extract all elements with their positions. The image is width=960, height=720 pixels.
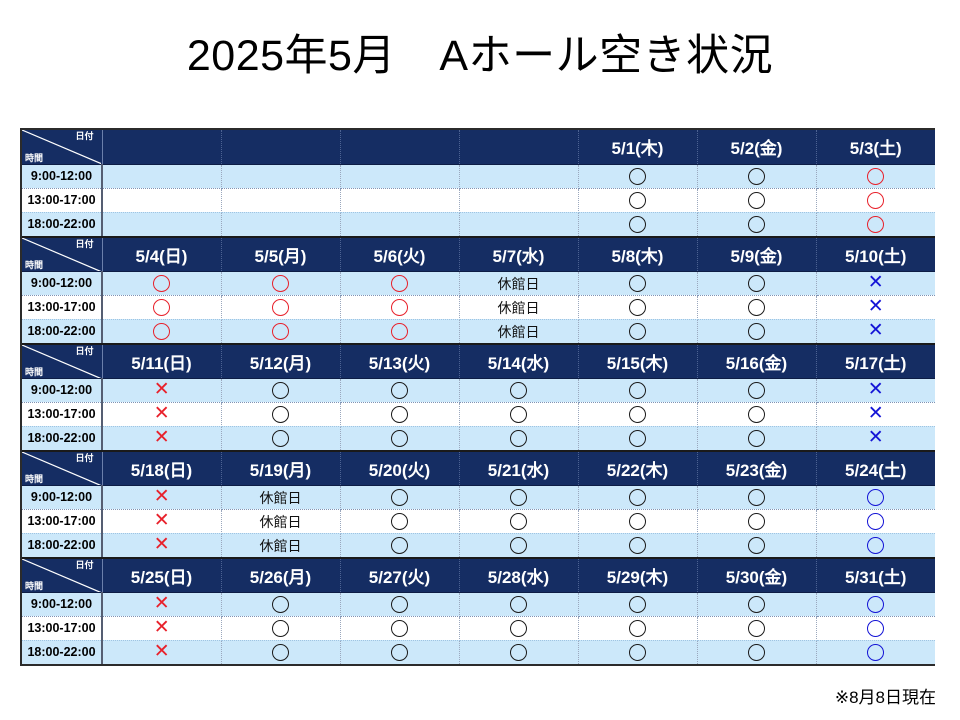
date-header-cell: 5/15(木) [578,344,697,378]
axis-label-time: 時間 [25,368,43,377]
cross-booked-icon: ✕ [868,321,884,340]
availability-cell-available[interactable] [102,319,221,343]
availability-cell-available[interactable] [697,402,816,426]
date-header-cell: 5/19(月) [221,451,340,485]
circle-available-icon [629,596,646,613]
circle-available-icon [510,430,527,447]
availability-cell-booked[interactable]: ✕ [102,485,221,509]
circle-available-icon [272,275,289,292]
circle-available-icon [867,489,884,506]
circle-available-icon [391,644,408,661]
availability-cell-available[interactable] [697,164,816,188]
week-header-row: 時間日付5/25(日)5/26(月)5/27(火)5/28(水)5/29(木)5… [22,558,935,592]
availability-cell-available[interactable] [697,640,816,664]
availability-cell-available[interactable] [578,212,697,236]
cross-booked-icon: ✕ [154,487,170,506]
availability-cell-empty [340,212,459,236]
axis-label-time: 時間 [25,261,43,270]
slot-row: 9:00-12:00 [22,164,935,188]
date-header-cell: 5/14(水) [459,344,578,378]
availability-cell-available[interactable] [578,319,697,343]
circle-available-icon [510,620,527,637]
axis-corner-cell: 時間日付 [22,237,102,271]
availability-cell-closed[interactable]: 休館日 [459,295,578,319]
circle-available-icon [510,596,527,613]
date-header-cell: 5/12(月) [221,344,340,378]
availability-cell-available[interactable] [816,640,935,664]
circle-available-icon [272,382,289,399]
availability-cell-available[interactable] [459,378,578,402]
closed-day-label: 休館日 [498,325,540,339]
availability-cell-booked[interactable]: ✕ [816,426,935,450]
cross-booked-icon: ✕ [154,642,170,661]
slot-row: 9:00-12:00✕✕ [22,378,935,402]
date-header-cell: 5/8(木) [578,237,697,271]
availability-cell-empty [102,212,221,236]
slot-row: 18:00-22:00✕休館日 [22,533,935,557]
availability-cell-available[interactable] [340,426,459,450]
week-header-row: 時間日付5/18(日)5/19(月)5/20(火)5/21(水)5/22(木)5… [22,451,935,485]
availability-cell-available[interactable] [816,616,935,640]
circle-available-icon [391,406,408,423]
availability-cell-available[interactable] [697,319,816,343]
circle-available-icon [629,406,646,423]
axis-corner-cell: 時間日付 [22,344,102,378]
availability-cell-booked[interactable]: ✕ [816,378,935,402]
availability-cell-available[interactable] [697,295,816,319]
circle-available-icon [629,168,646,185]
time-slot-label: 18:00-22:00 [22,533,102,557]
circle-available-icon [272,644,289,661]
availability-cell-available[interactable] [697,212,816,236]
axis-label-date: 日付 [75,240,93,249]
date-header-cell: 5/13(火) [340,344,459,378]
date-header-cell: 5/30(金) [697,558,816,592]
availability-cell-available[interactable] [816,212,935,236]
cross-booked-icon: ✕ [154,404,170,423]
availability-cell-available[interactable] [816,188,935,212]
axis-label-time: 時間 [25,475,43,484]
availability-cell-available[interactable] [578,188,697,212]
circle-available-icon [867,168,884,185]
circle-available-icon [629,275,646,292]
time-slot-label: 18:00-22:00 [22,212,102,236]
circle-available-icon [391,323,408,340]
time-slot-label: 13:00-17:00 [22,188,102,212]
slot-row: 13:00-17:00 [22,188,935,212]
availability-cell-available[interactable] [459,640,578,664]
availability-cell-available[interactable] [459,616,578,640]
time-slot-label: 13:00-17:00 [22,616,102,640]
circle-available-icon [272,299,289,316]
date-header-cell: 5/23(金) [697,451,816,485]
circle-available-icon [748,620,765,637]
circle-available-icon [153,323,170,340]
date-header-cell: 5/28(水) [459,558,578,592]
availability-cell-available[interactable] [697,592,816,616]
date-header-cell: 5/11(日) [102,344,221,378]
availability-cell-available[interactable] [816,164,935,188]
cross-booked-icon: ✕ [868,428,884,447]
circle-available-icon [867,513,884,530]
time-slot-label: 18:00-22:00 [22,426,102,450]
circle-available-icon [391,382,408,399]
cross-booked-icon: ✕ [154,511,170,530]
circle-available-icon [510,406,527,423]
time-slot-label: 18:00-22:00 [22,319,102,343]
availability-cell-closed[interactable]: 休館日 [221,509,340,533]
availability-cell-available[interactable] [340,271,459,295]
circle-available-icon [272,430,289,447]
availability-cell-empty [459,212,578,236]
circle-available-icon [629,430,646,447]
axis-label-date: 日付 [75,347,93,356]
date-header-cell: 5/18(日) [102,451,221,485]
date-header-cell: 5/22(木) [578,451,697,485]
circle-available-icon [748,596,765,613]
time-slot-label: 9:00-12:00 [22,485,102,509]
availability-cell-empty [459,188,578,212]
availability-cell-booked[interactable]: ✕ [102,533,221,557]
availability-cell-available[interactable] [459,485,578,509]
date-header-cell: 5/7(水) [459,237,578,271]
circle-available-icon [510,382,527,399]
availability-cell-empty [340,188,459,212]
axis-label-time: 時間 [25,154,43,163]
availability-cell-available[interactable] [697,533,816,557]
availability-cell-available[interactable] [697,426,816,450]
availability-cell-available[interactable] [221,616,340,640]
availability-cell-available[interactable] [459,592,578,616]
availability-cell-available[interactable] [697,616,816,640]
page-title: 2025年5月 Aホール空き状況 [0,0,960,80]
slot-row: 13:00-17:00✕✕ [22,402,935,426]
availability-cell-available[interactable] [340,319,459,343]
availability-cell-available[interactable] [578,485,697,509]
circle-available-icon [748,513,765,530]
date-header-cell: 5/16(金) [697,344,816,378]
circle-available-icon [629,216,646,233]
availability-cell-available[interactable] [578,402,697,426]
time-slot-label: 9:00-12:00 [22,164,102,188]
availability-cell-closed[interactable]: 休館日 [221,485,340,509]
availability-cell-empty [102,164,221,188]
week-header-row: 時間日付5/11(日)5/12(月)5/13(火)5/14(水)5/15(木)5… [22,344,935,378]
date-header-cell: 5/3(土) [816,130,935,164]
axis-corner-cell: 時間日付 [22,130,102,164]
circle-available-icon [867,192,884,209]
circle-available-icon [272,406,289,423]
availability-cell-available[interactable] [816,533,935,557]
date-header-cell-empty [102,130,221,164]
closed-day-label: 休館日 [260,491,302,505]
availability-cell-empty [221,212,340,236]
circle-available-icon [510,644,527,661]
availability-cell-available[interactable] [221,402,340,426]
availability-cell-booked[interactable]: ✕ [102,592,221,616]
availability-cell-available[interactable] [459,509,578,533]
availability-cell-available[interactable] [340,640,459,664]
availability-cell-available[interactable] [578,592,697,616]
slot-row: 13:00-17:00✕休館日 [22,509,935,533]
week-block: 時間日付5/11(日)5/12(月)5/13(火)5/14(水)5/15(木)5… [22,343,935,450]
circle-available-icon [748,192,765,209]
week-header-row: 時間日付5/4(日)5/5(月)5/6(火)5/7(水)5/8(木)5/9(金)… [22,237,935,271]
circle-available-icon [153,299,170,316]
availability-cell-available[interactable] [221,271,340,295]
availability-cell-available[interactable] [221,378,340,402]
availability-calendar: 時間日付5/1(木)5/2(金)5/3(土)9:00-12:0013:00-17… [20,128,935,666]
availability-cell-empty [459,164,578,188]
circle-available-icon [748,430,765,447]
availability-cell-available[interactable] [340,533,459,557]
circle-available-icon [391,489,408,506]
availability-cell-available[interactable] [340,378,459,402]
cross-booked-icon: ✕ [868,297,884,316]
circle-available-icon [391,596,408,613]
cross-booked-icon: ✕ [868,404,884,423]
date-header-cell: 5/5(月) [221,237,340,271]
date-header-cell: 5/31(土) [816,558,935,592]
circle-available-icon [748,537,765,554]
availability-cell-available[interactable] [578,616,697,640]
availability-cell-available[interactable] [221,592,340,616]
availability-cell-available[interactable] [102,295,221,319]
date-header-cell: 5/10(土) [816,237,935,271]
circle-available-icon [510,513,527,530]
availability-cell-available[interactable] [221,295,340,319]
week-block: 時間日付5/1(木)5/2(金)5/3(土)9:00-12:0013:00-17… [22,130,935,236]
closed-day-label: 休館日 [260,539,302,553]
availability-cell-available[interactable] [578,426,697,450]
availability-cell-available[interactable] [578,164,697,188]
circle-available-icon [629,299,646,316]
date-header-cell: 5/6(火) [340,237,459,271]
axis-label-date: 日付 [75,132,93,141]
circle-available-icon [748,382,765,399]
availability-cell-closed[interactable]: 休館日 [221,533,340,557]
slot-row: 18:00-22:00✕ [22,640,935,664]
slot-row: 13:00-17:00休館日✕ [22,295,935,319]
availability-cell-closed[interactable]: 休館日 [459,271,578,295]
axis-label-time: 時間 [25,582,43,591]
availability-cell-available[interactable] [459,533,578,557]
availability-cell-available[interactable] [459,426,578,450]
footer-note: ※8月8日現在 [835,683,936,708]
circle-available-icon [153,275,170,292]
slot-row: 13:00-17:00✕ [22,616,935,640]
cross-booked-icon: ✕ [868,273,884,292]
availability-cell-empty [340,164,459,188]
circle-available-icon [748,275,765,292]
circle-available-icon [391,299,408,316]
date-header-cell-empty [221,130,340,164]
cross-booked-icon: ✕ [154,594,170,613]
availability-cell-booked[interactable]: ✕ [102,426,221,450]
circle-available-icon [391,513,408,530]
circle-available-icon [629,382,646,399]
availability-cell-booked[interactable]: ✕ [102,402,221,426]
week-header-row: 時間日付5/1(木)5/2(金)5/3(土) [22,130,935,164]
time-slot-label: 9:00-12:00 [22,378,102,402]
cross-booked-icon: ✕ [154,618,170,637]
circle-available-icon [510,537,527,554]
axis-label-date: 日付 [75,454,93,463]
closed-day-label: 休館日 [498,301,540,315]
circle-available-icon [867,596,884,613]
time-slot-label: 18:00-22:00 [22,640,102,664]
circle-available-icon [748,216,765,233]
circle-available-icon [272,596,289,613]
date-header-cell: 5/27(火) [340,558,459,592]
date-header-cell: 5/17(土) [816,344,935,378]
week-block: 時間日付5/4(日)5/5(月)5/6(火)5/7(水)5/8(木)5/9(金)… [22,236,935,343]
availability-cell-available[interactable] [816,509,935,533]
date-header-cell: 5/26(月) [221,558,340,592]
availability-cell-available[interactable] [697,271,816,295]
week-block: 時間日付5/25(日)5/26(月)5/27(火)5/28(水)5/29(木)5… [22,557,935,664]
circle-available-icon [748,323,765,340]
week-block: 時間日付5/18(日)5/19(月)5/20(火)5/21(水)5/22(木)5… [22,450,935,557]
circle-available-icon [629,489,646,506]
availability-cell-empty [102,188,221,212]
availability-cell-available[interactable] [578,509,697,533]
availability-cell-available[interactable] [816,592,935,616]
time-slot-label: 13:00-17:00 [22,295,102,319]
availability-cell-available[interactable] [697,509,816,533]
availability-cell-closed[interactable]: 休館日 [459,319,578,343]
circle-available-icon [629,323,646,340]
cross-booked-icon: ✕ [868,380,884,399]
availability-cell-available[interactable] [578,533,697,557]
slot-row: 9:00-12:00✕休館日 [22,485,935,509]
availability-cell-available[interactable] [340,592,459,616]
time-slot-label: 13:00-17:00 [22,402,102,426]
availability-cell-available[interactable] [459,402,578,426]
cross-booked-icon: ✕ [154,535,170,554]
axis-corner-cell: 時間日付 [22,558,102,592]
availability-cell-booked[interactable]: ✕ [102,509,221,533]
availability-cell-available[interactable] [578,295,697,319]
circle-available-icon [867,620,884,637]
availability-cell-available[interactable] [578,640,697,664]
availability-cell-available[interactable] [816,485,935,509]
availability-cell-available[interactable] [340,509,459,533]
circle-available-icon [867,537,884,554]
availability-cell-available[interactable] [578,271,697,295]
availability-cell-available[interactable] [102,271,221,295]
axis-label-date: 日付 [75,561,93,570]
date-header-cell: 5/9(金) [697,237,816,271]
circle-available-icon [629,192,646,209]
availability-cell-available[interactable] [221,319,340,343]
circle-available-icon [629,620,646,637]
time-slot-label: 9:00-12:00 [22,271,102,295]
availability-cell-empty [221,188,340,212]
date-header-cell-empty [459,130,578,164]
cross-booked-icon: ✕ [154,428,170,447]
availability-cell-booked[interactable]: ✕ [816,402,935,426]
circle-available-icon [748,168,765,185]
date-header-cell: 5/4(日) [102,237,221,271]
time-slot-label: 13:00-17:00 [22,509,102,533]
availability-cell-available[interactable] [578,378,697,402]
slot-row: 9:00-12:00✕ [22,592,935,616]
date-header-cell: 5/2(金) [697,130,816,164]
date-header-cell: 5/29(木) [578,558,697,592]
availability-cell-booked[interactable]: ✕ [102,616,221,640]
availability-cell-available[interactable] [340,402,459,426]
date-header-cell: 5/21(水) [459,451,578,485]
slot-row: 18:00-22:00✕✕ [22,426,935,450]
availability-cell-booked[interactable]: ✕ [816,319,935,343]
closed-day-label: 休館日 [498,277,540,291]
circle-available-icon [272,323,289,340]
circle-available-icon [391,430,408,447]
circle-available-icon [391,620,408,637]
circle-available-icon [391,275,408,292]
slot-row: 9:00-12:00休館日✕ [22,271,935,295]
closed-day-label: 休館日 [260,515,302,529]
circle-available-icon [748,406,765,423]
time-slot-label: 9:00-12:00 [22,592,102,616]
availability-cell-booked[interactable]: ✕ [816,295,935,319]
circle-available-icon [629,644,646,661]
date-header-cell: 5/24(土) [816,451,935,485]
circle-available-icon [867,216,884,233]
circle-available-icon [867,644,884,661]
availability-cell-available[interactable] [221,426,340,450]
availability-cell-available[interactable] [697,188,816,212]
cross-booked-icon: ✕ [154,380,170,399]
circle-available-icon [272,620,289,637]
availability-cell-booked[interactable]: ✕ [102,640,221,664]
circle-available-icon [748,489,765,506]
slot-row: 18:00-22:00 [22,212,935,236]
circle-available-icon [629,513,646,530]
availability-cell-available[interactable] [340,295,459,319]
circle-available-icon [748,644,765,661]
circle-available-icon [510,489,527,506]
availability-cell-empty [221,164,340,188]
availability-cell-available[interactable] [340,616,459,640]
availability-cell-available[interactable] [697,485,816,509]
date-header-cell-empty [340,130,459,164]
slot-row: 18:00-22:00休館日✕ [22,319,935,343]
date-header-cell: 5/1(木) [578,130,697,164]
availability-cell-booked[interactable]: ✕ [816,271,935,295]
date-header-cell: 5/20(火) [340,451,459,485]
availability-cell-available[interactable] [697,378,816,402]
date-header-cell: 5/25(日) [102,558,221,592]
circle-available-icon [748,299,765,316]
availability-cell-available[interactable] [340,485,459,509]
circle-available-icon [391,537,408,554]
availability-cell-booked[interactable]: ✕ [102,378,221,402]
circle-available-icon [629,537,646,554]
axis-corner-cell: 時間日付 [22,451,102,485]
availability-cell-available[interactable] [221,640,340,664]
